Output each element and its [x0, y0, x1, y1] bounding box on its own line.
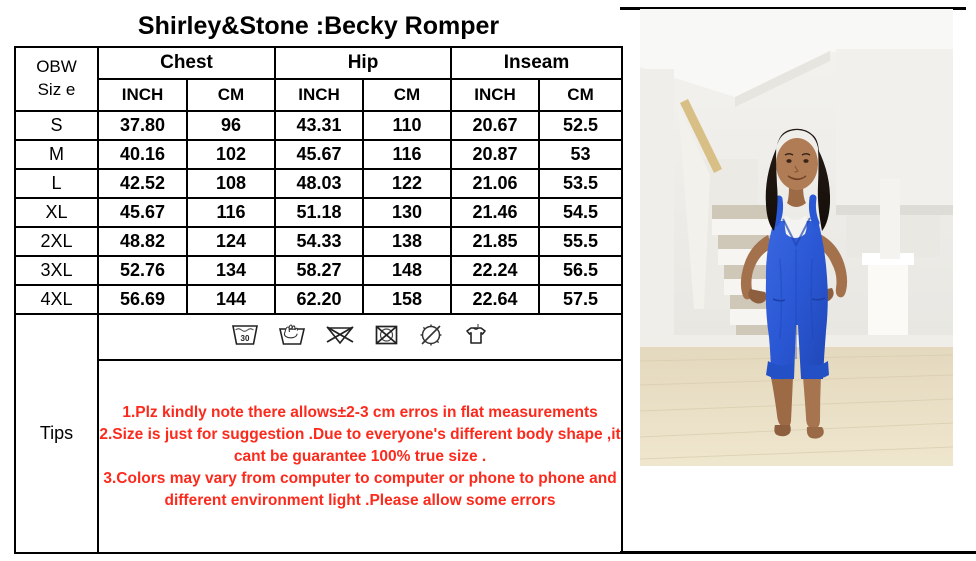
- hip-inch-value: 43.31: [275, 111, 363, 140]
- unit-header-hip-inch: INCH: [275, 79, 363, 111]
- care-symbols-row: Tips 30: [15, 314, 622, 360]
- do-not-iron-icon: [417, 322, 445, 353]
- inseam-inch-value: 20.87: [451, 140, 539, 169]
- chest-inch-value: 56.69: [98, 285, 187, 314]
- chest-cm-value: 96: [187, 111, 275, 140]
- size-label: M: [15, 140, 98, 169]
- inseam-cm-value: 52.5: [539, 111, 622, 140]
- chest-cm-value: 102: [187, 140, 275, 169]
- size-label: L: [15, 169, 98, 198]
- unit-header-chest-inch: INCH: [98, 79, 187, 111]
- chest-cm-value: 134: [187, 256, 275, 285]
- hip-cm-value: 138: [363, 227, 451, 256]
- size-chart-table: Shirley&Stone :Becky Romper OBW Siz e Ch…: [14, 7, 623, 554]
- size-label: 3XL: [15, 256, 98, 285]
- inseam-inch-value: 22.24: [451, 256, 539, 285]
- inseam-inch-value: 22.64: [451, 285, 539, 314]
- inseam-cm-value: 54.5: [539, 198, 622, 227]
- tips-cell: 1.Plz kindly note there allows±2-3 cm er…: [98, 360, 622, 553]
- size-column-header: OBW Siz e: [15, 47, 98, 111]
- do-not-bleach-icon: [324, 322, 356, 353]
- hip-cm-value: 158: [363, 285, 451, 314]
- size-chart-container: Shirley&Stone :Becky Romper OBW Siz e Ch…: [14, 7, 621, 554]
- group-header-hip: Hip: [275, 47, 451, 79]
- size-chart-page: Shirley&Stone :Becky Romper OBW Siz e Ch…: [0, 0, 976, 561]
- hip-inch-value: 51.18: [275, 198, 363, 227]
- page-title: Shirley&Stone :Becky Romper: [15, 7, 622, 47]
- chest-cm-value: 108: [187, 169, 275, 198]
- hand-wash-icon: [277, 322, 307, 353]
- tip-item: 3.Colors may vary from computer to compu…: [99, 468, 621, 512]
- hip-inch-value: 54.33: [275, 227, 363, 256]
- title-row: Shirley&Stone :Becky Romper: [15, 7, 622, 47]
- do-not-tumble-dry-icon: [373, 322, 400, 353]
- chest-inch-value: 42.52: [98, 169, 187, 198]
- unit-header-hip-cm: CM: [363, 79, 451, 111]
- dry-in-shade-tshirt-icon: [462, 322, 490, 353]
- group-header-inseam: Inseam: [451, 47, 622, 79]
- hip-inch-value: 58.27: [275, 256, 363, 285]
- tips-label: Tips: [15, 314, 98, 553]
- size-label: 4XL: [15, 285, 98, 314]
- table-row: 4XL 56.69 144 62.20 158 22.64 57.5: [15, 285, 622, 314]
- chest-inch-value: 48.82: [98, 227, 187, 256]
- table-row: L 42.52 108 48.03 122 21.06 53.5: [15, 169, 622, 198]
- hip-cm-value: 116: [363, 140, 451, 169]
- hip-cm-value: 130: [363, 198, 451, 227]
- hip-cm-value: 148: [363, 256, 451, 285]
- size-label: XL: [15, 198, 98, 227]
- chest-inch-value: 37.80: [98, 111, 187, 140]
- group-header-chest: Chest: [98, 47, 275, 79]
- table-row: S 37.80 96 43.31 110 20.67 52.5: [15, 111, 622, 140]
- machine-wash-30-icon: 30: [230, 322, 260, 353]
- hip-inch-value: 62.20: [275, 285, 363, 314]
- hip-inch-value: 45.67: [275, 140, 363, 169]
- size-label: S: [15, 111, 98, 140]
- unit-header-inseam-inch: INCH: [451, 79, 539, 111]
- chest-cm-value: 116: [187, 198, 275, 227]
- tips-row: 1.Plz kindly note there allows±2-3 cm er…: [15, 360, 622, 553]
- inseam-inch-value: 21.46: [451, 198, 539, 227]
- chest-inch-value: 52.76: [98, 256, 187, 285]
- chest-inch-value: 45.67: [98, 198, 187, 227]
- table-row: 3XL 52.76 134 58.27 148 22.24 56.5: [15, 256, 622, 285]
- hip-inch-value: 48.03: [275, 169, 363, 198]
- size-label: 2XL: [15, 227, 98, 256]
- table-row: M 40.16 102 45.67 116 20.87 53: [15, 140, 622, 169]
- inseam-cm-value: 55.5: [539, 227, 622, 256]
- product-photo-illustration: [640, 9, 953, 466]
- chest-cm-value: 144: [187, 285, 275, 314]
- bottom-divider-rule: [620, 551, 976, 554]
- table-row: XL 45.67 116 51.18 130 21.46 54.5: [15, 198, 622, 227]
- table-row: 2XL 48.82 124 54.33 138 21.85 55.5: [15, 227, 622, 256]
- chest-inch-value: 40.16: [98, 140, 187, 169]
- unit-header-inseam-cm: CM: [539, 79, 622, 111]
- inseam-inch-value: 21.85: [451, 227, 539, 256]
- unit-header-chest-cm: CM: [187, 79, 275, 111]
- unit-header-row: INCH CM INCH CM INCH CM: [15, 79, 622, 111]
- chest-cm-value: 124: [187, 227, 275, 256]
- hip-cm-value: 110: [363, 111, 451, 140]
- tip-item: 1.Plz kindly note there allows±2-3 cm er…: [99, 402, 621, 424]
- wash-temp-label: 30: [241, 334, 250, 343]
- inseam-inch-value: 21.06: [451, 169, 539, 198]
- inseam-cm-value: 53.5: [539, 169, 622, 198]
- product-photo: [640, 9, 953, 466]
- inseam-cm-value: 57.5: [539, 285, 622, 314]
- inseam-inch-value: 20.67: [451, 111, 539, 140]
- care-symbols-cell: 30: [98, 314, 622, 360]
- group-header-row: OBW Siz e Chest Hip Inseam: [15, 47, 622, 79]
- inseam-cm-value: 53: [539, 140, 622, 169]
- hip-cm-value: 122: [363, 169, 451, 198]
- tip-item: 2.Size is just for suggestion .Due to ev…: [99, 424, 621, 468]
- inseam-cm-value: 56.5: [539, 256, 622, 285]
